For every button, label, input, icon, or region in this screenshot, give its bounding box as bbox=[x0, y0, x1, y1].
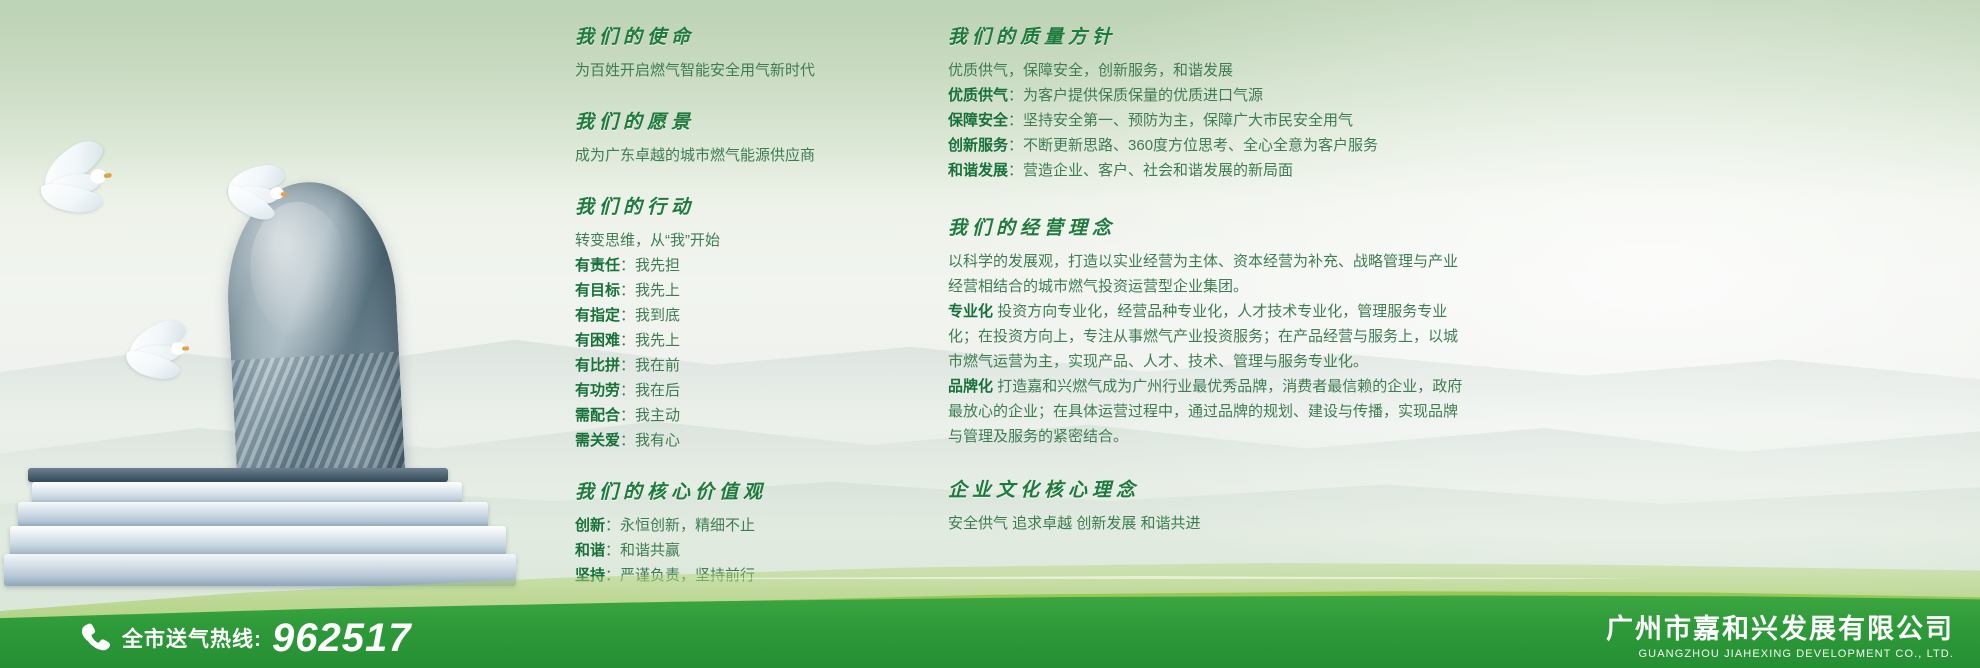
action-intro: 转变思维，从“我”开始 bbox=[575, 228, 905, 253]
business-philosophy-intro: 以科学的发展观，打造以实业经营为主体、资本经营为补充、战略管理与产业经营相结合的… bbox=[948, 249, 1468, 299]
kv-value: 我先上 bbox=[635, 332, 680, 349]
action-item: 有比拼：我在前 bbox=[575, 353, 905, 378]
quality-policy-block: 我们的质量方针 优质供气，保障安全，创新服务，和谐发展 优质供气：为客户提供保质… bbox=[948, 22, 1468, 183]
quality-policy-list: 优质供气：为客户提供保质保量的优质进口气源保障安全：坚持安全第一、预防为主，保障… bbox=[948, 83, 1468, 183]
kv-separator: ： bbox=[620, 357, 635, 374]
kv-separator: ： bbox=[1008, 162, 1023, 179]
kv-key: 和谐发展 bbox=[948, 162, 1008, 179]
action-title: 我们的行动 bbox=[575, 192, 905, 219]
vision-line: 成为广东卓越的城市燃气能源供应商 bbox=[575, 143, 905, 168]
company-name-en: GUANGZHOU JIAHEXING DEVELOPMENT CO., LTD… bbox=[1606, 648, 1954, 660]
kv-key: 有比拼 bbox=[575, 357, 620, 374]
kv-key: 保障安全 bbox=[948, 112, 1008, 129]
kv-key: 需配合 bbox=[575, 407, 620, 424]
business-philosophy-item: 品牌化 打造嘉和兴燃气成为广州行业最优秀品牌，消费者最信赖的企业，政府最放心的企… bbox=[948, 374, 1468, 449]
kv-key: 优质供气 bbox=[948, 87, 1008, 104]
action-item: 有困难：我先上 bbox=[575, 328, 905, 353]
vision-block: 我们的愿景 成为广东卓越的城市燃气能源供应商 bbox=[575, 107, 905, 168]
kv-separator: ： bbox=[620, 432, 635, 449]
kv-value: 坚持安全第一、预防为主，保障广大市民安全用气 bbox=[1023, 112, 1353, 129]
kv-separator: ： bbox=[1008, 137, 1023, 154]
footer-bar: 全市送气热线: 962517 广州市嘉和兴发展有限公司 GUANGZHOU JI… bbox=[0, 590, 1980, 668]
kv-key: 有功劳 bbox=[575, 382, 620, 399]
kv-separator: ： bbox=[620, 332, 635, 349]
kv-value: 我主动 bbox=[635, 407, 680, 424]
action-item: 有指定：我到底 bbox=[575, 303, 905, 328]
kv-separator: ： bbox=[1008, 87, 1023, 104]
quality-policy-title: 我们的质量方针 bbox=[948, 22, 1468, 49]
business-philosophy-block: 我们的经营理念 以科学的发展观，打造以实业经营为主体、资本经营为补充、战略管理与… bbox=[948, 213, 1468, 449]
mission-title: 我们的使命 bbox=[575, 22, 905, 49]
stone-sundial bbox=[222, 178, 406, 496]
vision-title: 我们的愿景 bbox=[575, 107, 905, 134]
kv-separator: ： bbox=[620, 382, 635, 399]
kv-key: 品牌化 bbox=[948, 378, 993, 395]
hotline-group[interactable]: 全市送气热线: 962517 bbox=[78, 618, 411, 658]
business-philosophy-item: 专业化 投资方向专业化，经营品种专业化，人才技术专业化，管理服务专业化；在投资方… bbox=[948, 299, 1468, 374]
kv-value: 我先担 bbox=[635, 257, 680, 274]
mission-block: 我们的使命 为百姓开启燃气智能安全用气新时代 bbox=[575, 22, 905, 83]
company-identity: 广州市嘉和兴发展有限公司 GUANGZHOU JIAHEXING DEVELOP… bbox=[1606, 613, 1954, 660]
kv-key: 有指定 bbox=[575, 307, 620, 324]
action-item: 有功劳：我在后 bbox=[575, 378, 905, 403]
kv-key: 有责任 bbox=[575, 257, 620, 274]
mission-line: 为百姓开启燃气智能安全用气新时代 bbox=[575, 58, 905, 83]
kv-separator: ： bbox=[620, 307, 635, 324]
kv-value: 我有心 bbox=[635, 432, 680, 449]
kv-value: 投资方向专业化，经营品种专业化，人才技术专业化，管理服务专业化；在投资方向上，专… bbox=[948, 303, 1458, 370]
kv-value: 我到底 bbox=[635, 307, 680, 324]
kv-value: 为客户提供保质保量的优质进口气源 bbox=[1023, 87, 1263, 104]
action-item: 有责任：我先担 bbox=[575, 253, 905, 278]
kv-key: 有目标 bbox=[575, 282, 620, 299]
quality-policy-item: 优质供气：为客户提供保质保量的优质进口气源 bbox=[948, 83, 1468, 108]
kv-key: 专业化 bbox=[948, 303, 993, 320]
kv-key: 需关爱 bbox=[575, 432, 620, 449]
action-item-list: 有责任：我先担有目标：我先上有指定：我到底有困难：我先上有比拼：我在前有功劳：我… bbox=[575, 253, 905, 453]
poster-canvas: 我们的使命 为百姓开启燃气智能安全用气新时代 我们的愿景 成为广东卓越的城市燃气… bbox=[0, 0, 1980, 668]
action-item: 需配合：我主动 bbox=[575, 403, 905, 428]
company-name-cn: 广州市嘉和兴发展有限公司 bbox=[1606, 613, 1954, 645]
action-item: 有目标：我先上 bbox=[575, 278, 905, 303]
hotline-number: 962517 bbox=[272, 618, 411, 658]
kv-key: 有困难 bbox=[575, 332, 620, 349]
action-block: 我们的行动 转变思维，从“我”开始 有责任：我先担有目标：我先上有指定：我到底有… bbox=[575, 192, 905, 453]
business-philosophy-list: 专业化 投资方向专业化，经营品种专业化，人才技术专业化，管理服务专业化；在投资方… bbox=[948, 299, 1468, 449]
kv-separator: ： bbox=[620, 407, 635, 424]
kv-separator: ： bbox=[620, 257, 635, 274]
business-philosophy-title: 我们的经营理念 bbox=[948, 213, 1468, 240]
kv-separator: ： bbox=[620, 282, 635, 299]
phone-icon bbox=[78, 621, 112, 655]
kv-value: 打造嘉和兴燃气成为广州行业最优秀品牌，消费者最信赖的企业，政府最放心的企业；在具… bbox=[948, 378, 1462, 445]
quality-policy-item: 和谐发展：营造企业、客户、社会和谐发展的新局面 bbox=[948, 158, 1468, 183]
quality-policy-item: 保障安全：坚持安全第一、预防为主，保障广大市民安全用气 bbox=[948, 108, 1468, 133]
kv-separator: ： bbox=[1008, 112, 1023, 129]
kv-value: 我在前 bbox=[635, 357, 680, 374]
quality-policy-item: 创新服务：不断更新思路、360度方位思考、全心全意为客户服务 bbox=[948, 133, 1468, 158]
kv-value: 不断更新思路、360度方位思考、全心全意为客户服务 bbox=[1023, 137, 1378, 154]
kv-value: 营造企业、客户、社会和谐发展的新局面 bbox=[1023, 162, 1293, 179]
action-item: 需关爱：我有心 bbox=[575, 428, 905, 453]
hotline-label: 全市送气热线: bbox=[122, 623, 262, 653]
kv-value: 我在后 bbox=[635, 382, 680, 399]
kv-value: 我先上 bbox=[635, 282, 680, 299]
kv-key: 创新服务 bbox=[948, 137, 1008, 154]
quality-policy-summary: 优质供气，保障安全，创新服务，和谐发展 bbox=[948, 58, 1468, 83]
